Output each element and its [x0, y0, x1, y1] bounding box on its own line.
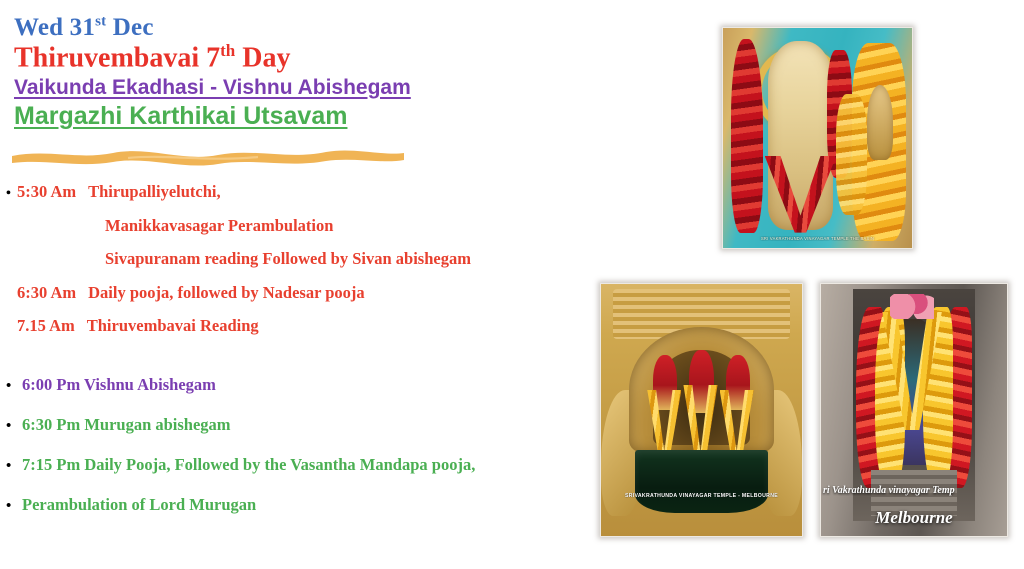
photo-shrine-content — [821, 284, 1007, 536]
schedule-row: • 5:30 Am Thirupalliyelutchi, — [6, 183, 606, 201]
heading-block: Wed 31st Dec Thiruvembavai 7th Day Vaiku… — [14, 13, 614, 131]
date-month: Dec — [106, 14, 153, 41]
morning-schedule-list: • 5:30 Am Thirupalliyelutchi, Manikkavas… — [6, 183, 606, 350]
bullet-icon: • — [6, 459, 22, 474]
pink-flower-crown — [890, 294, 935, 319]
nataraja-idol — [768, 41, 832, 230]
photo-caption-line1: ri Vakrathunda vinayagar Temp — [821, 485, 1008, 496]
schedule-description: Manikkavasagar Perambulation — [105, 217, 333, 234]
evening-schedule-list: • 6:00 Pm Vishnu Abishegam • 6:30 Pm Mur… — [6, 376, 606, 536]
photo-caption: SRIVAKRATHUNDA VINAYAGAR TEMPLE - MELBOU… — [601, 493, 802, 499]
photo-vinayagar-temple: SRIVAKRATHUNDA VINAYAGAR TEMPLE - MELBOU… — [600, 283, 803, 537]
photo-caption: SRI VAKRATHUNDA VINAYAGAR TEMPLE THE BAS… — [732, 236, 902, 241]
schedule-time: 7.15 Am — [17, 317, 87, 334]
photo-shrine-garlanded: ri Vakrathunda vinayagar Temp Melbourne — [820, 283, 1008, 537]
schedule-description: Sivapuranam reading Followed by Sivan ab… — [105, 250, 471, 267]
schedule-time: 6:30 Am — [17, 284, 88, 301]
bullet-icon: • — [6, 379, 22, 394]
schedule-row: 7.15 Am Thiruvembavai Reading — [6, 317, 606, 334]
schedule-description: Perambulation of Lord Murugan — [22, 496, 256, 513]
photo-caption-line2: Melbourne — [821, 508, 1007, 528]
schedule-row: 6:30 Am Daily pooja, followed by Nadesar… — [6, 284, 606, 301]
wavy-divider-ornament — [8, 140, 408, 168]
schedule-description: 7:15 Pm Daily Pooja, Followed by the Vas… — [22, 456, 475, 473]
bullet-icon: • — [6, 419, 22, 434]
utsavam-title: Margazhi Karthikai Utsavam — [14, 101, 614, 131]
secondary-deity — [867, 85, 893, 160]
bullet-icon: • — [6, 187, 17, 201]
schedule-row: • 6:30 Pm Murugan abishegam — [6, 416, 606, 434]
slide-canvas: Wed 31st Dec Thiruvembavai 7th Day Vaiku… — [0, 0, 1024, 569]
date-ordinal-suffix: st — [95, 14, 106, 30]
bullet-icon: • — [6, 499, 22, 514]
schedule-description: 6:30 Pm Murugan abishegam — [22, 416, 231, 433]
schedule-row: • Perambulation of Lord Murugan — [6, 496, 606, 514]
schedule-description: Thiruvembavai Reading — [87, 317, 259, 334]
festival-day-line: Thiruvembavai 7th Day — [14, 41, 614, 74]
red-garland-left — [731, 39, 763, 233]
schedule-time: 5:30 Am — [17, 183, 88, 200]
schedule-row: • 6:00 Pm Vishnu Abishegam — [6, 376, 606, 394]
festival-ordinal-suffix: th — [220, 41, 235, 60]
yellow-garland-inner — [836, 94, 866, 215]
photo-nataraja-content — [723, 28, 912, 248]
date-prefix: Wed 31 — [14, 14, 95, 41]
schedule-description: Daily pooja, followed by Nadesar pooja — [88, 284, 365, 301]
festival-prefix: Thiruvembavai 7 — [14, 42, 220, 73]
schedule-row: Manikkavasagar Perambulation — [6, 217, 606, 234]
schedule-description: Thirupalliyelutchi, — [88, 183, 220, 200]
schedule-description: 6:00 Pm Vishnu Abishegam — [22, 376, 216, 393]
subtitle-line: Vaikunda Ekadhasi - Vishnu Abishegam — [14, 75, 614, 101]
photo-nataraja-deity: SRI VAKRATHUNDA VINAYAGAR TEMPLE THE BAS… — [722, 27, 913, 249]
schedule-row: Sivapuranam reading Followed by Sivan ab… — [6, 250, 606, 267]
schedule-row: • 7:15 Pm Daily Pooja, Followed by the V… — [6, 456, 606, 474]
date-line: Wed 31st Dec — [14, 13, 614, 42]
green-drape — [635, 450, 768, 513]
festival-suffix: Day — [235, 42, 290, 73]
